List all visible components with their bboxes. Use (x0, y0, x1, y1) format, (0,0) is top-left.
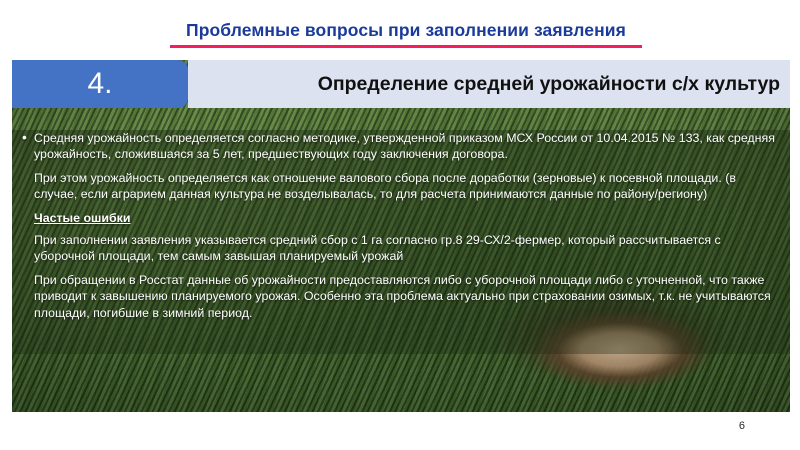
page-number: 6 (739, 420, 745, 432)
page-title: Проблемные вопросы при заполнении заявле… (170, 18, 642, 42)
error-paragraph: При обращении в Росстат данные об урожай… (20, 272, 780, 321)
slide-title-block: Проблемные вопросы при заполнении заявле… (170, 18, 642, 48)
frequent-errors-heading: Частые ошибки (20, 210, 780, 226)
section-header-bar: 4. Определение средней урожайности с/х к… (12, 60, 790, 108)
section-number-badge: 4. (12, 60, 188, 108)
body-paragraph: При этом урожайность определяется как от… (20, 170, 780, 203)
section-heading-text: Определение средней урожайности с/х куль… (318, 73, 780, 96)
section-heading-band: Определение средней урожайности с/х куль… (188, 60, 790, 108)
slide-content-area: 4. Определение средней урожайности с/х к… (12, 60, 790, 412)
body-copy: Средняя урожайность определяется согласн… (12, 130, 790, 328)
title-underline-rule (170, 45, 642, 48)
error-paragraph: При заполнении заявления указывается сре… (20, 232, 780, 265)
body-paragraph: Средняя урожайность определяется согласн… (20, 130, 780, 163)
